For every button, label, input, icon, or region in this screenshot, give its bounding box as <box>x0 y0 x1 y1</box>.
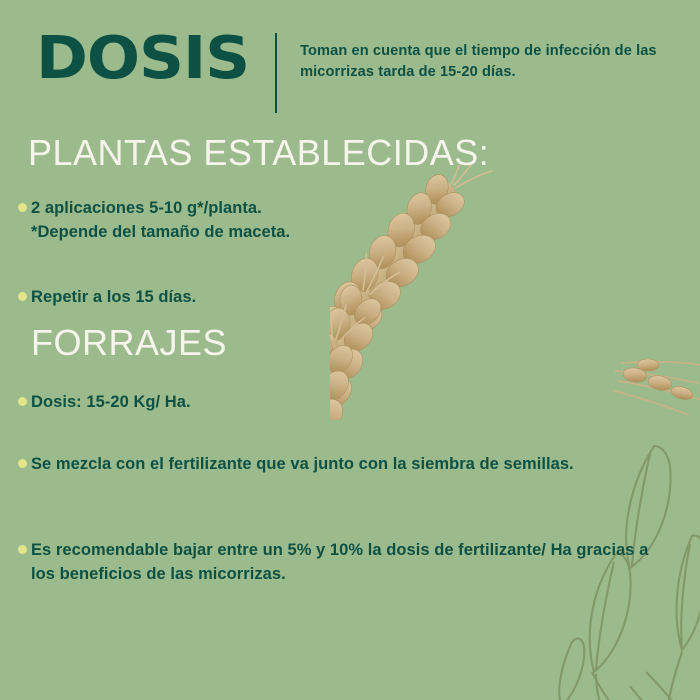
header: DOSIS Toman en cuenta que el tiempo de i… <box>36 28 690 113</box>
bullet-dot-icon <box>18 545 27 554</box>
list-item: Es recomendable bajar entre un 5% y 10% … <box>18 538 658 586</box>
list-item: Dosis: 15-20 Kg/ Ha. <box>18 390 348 414</box>
list-item-label: Repetir a los 15 días. <box>31 285 196 309</box>
list-item: Se mezcla con el fertilizante que va jun… <box>18 452 658 476</box>
list-item-label: 2 aplicaciones 5-10 g*/planta. *Depende … <box>31 196 290 244</box>
list-item-label: Es recomendable bajar entre un 5% y 10% … <box>31 538 658 586</box>
bullet-dot-icon <box>18 203 27 212</box>
list-item-label: Se mezcla con el fertilizante que va jun… <box>31 452 574 476</box>
poster-canvas: DOSIS Toman en cuenta que el tiempo de i… <box>0 0 700 700</box>
list-item-label: Dosis: 15-20 Kg/ Ha. <box>31 390 191 414</box>
page-title: DOSIS <box>36 28 249 88</box>
bullet-dot-icon <box>18 292 27 301</box>
wheat-ears-illustration <box>330 165 700 420</box>
list-item: 2 aplicaciones 5-10 g*/planta. *Depende … <box>18 196 348 244</box>
header-divider <box>275 33 277 113</box>
header-note: Toman en cuenta que el tiempo de infecci… <box>300 41 690 83</box>
bullet-dot-icon <box>18 459 27 468</box>
section-heading-plantas-establecidas: PLANTAS ESTABLECIDAS: <box>28 132 489 174</box>
bullet-dot-icon <box>18 397 27 406</box>
list-item: Repetir a los 15 días. <box>18 285 348 309</box>
section-heading-forrajes: FORRAJES <box>31 322 227 364</box>
